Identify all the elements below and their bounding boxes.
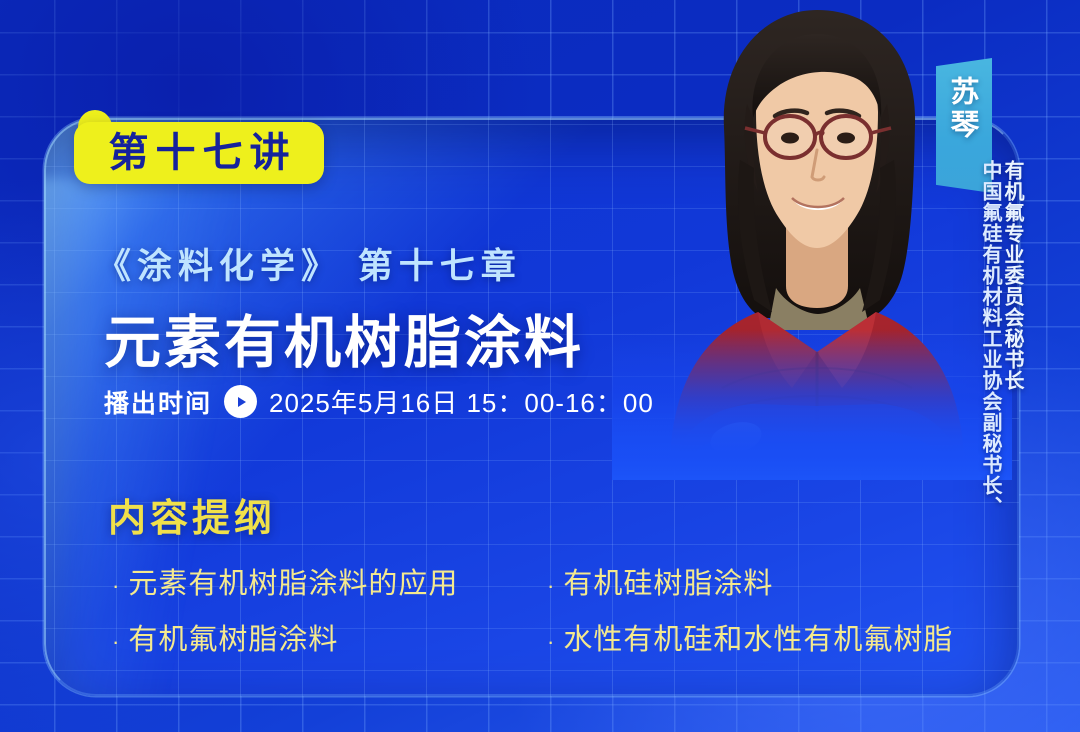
airtime-row: 播出时间 2025年5月16日 15：00-16：00: [104, 383, 654, 420]
lesson-badge: 第十七讲: [74, 122, 324, 184]
lesson-badge-wrapper: 第十七讲: [74, 122, 324, 184]
outline-list: · 元素有机树脂涂料的应用 · 有机硅树脂涂料 · 有机氟树脂涂料 · 水性有机…: [112, 560, 972, 658]
bullet-icon: ·: [547, 575, 555, 597]
list-item: · 有机氟树脂涂料: [112, 616, 547, 658]
promo-poster: 第十七讲 《涂料化学》 第十七章 元素有机树脂涂料 播出时间 2025年5月16…: [0, 0, 1080, 732]
list-item-label: 有机氟树脂涂料: [128, 616, 338, 658]
list-item-label: 元素有机树脂涂料的应用: [128, 560, 458, 602]
chapter-subtitle: 《涂料化学》 第十七章: [96, 238, 522, 289]
speaker-credential-secondary: 中国氟硅有机材料工业协会副秘书长、: [980, 160, 1000, 490]
outline-heading: 内容提纲: [108, 487, 276, 542]
play-icon[interactable]: [224, 385, 257, 418]
bullet-icon: ·: [112, 631, 120, 653]
speaker-credential-primary: 有机氟专业委员会秘书长: [1002, 160, 1022, 490]
list-item: · 元素有机树脂涂料的应用: [112, 560, 547, 602]
list-item-label: 有机硅树脂涂料: [563, 560, 773, 602]
bullet-icon: ·: [112, 575, 120, 597]
list-item-label: 水性有机硅和水性有机氟树脂: [563, 616, 953, 658]
airtime-value: 2025年5月16日 15：00-16：00: [269, 383, 654, 420]
page-title: 元素有机树脂涂料: [104, 297, 584, 379]
airtime-label: 播出时间: [104, 384, 212, 420]
speaker-name: 苏琴: [944, 76, 984, 142]
bullet-icon: ·: [547, 631, 555, 653]
list-item: · 水性有机硅和水性有机氟树脂: [547, 616, 972, 658]
list-item: · 有机硅树脂涂料: [547, 560, 972, 602]
speaker-credentials: 中国氟硅有机材料工业协会副秘书长、 有机氟专业委员会秘书长: [980, 160, 1042, 490]
